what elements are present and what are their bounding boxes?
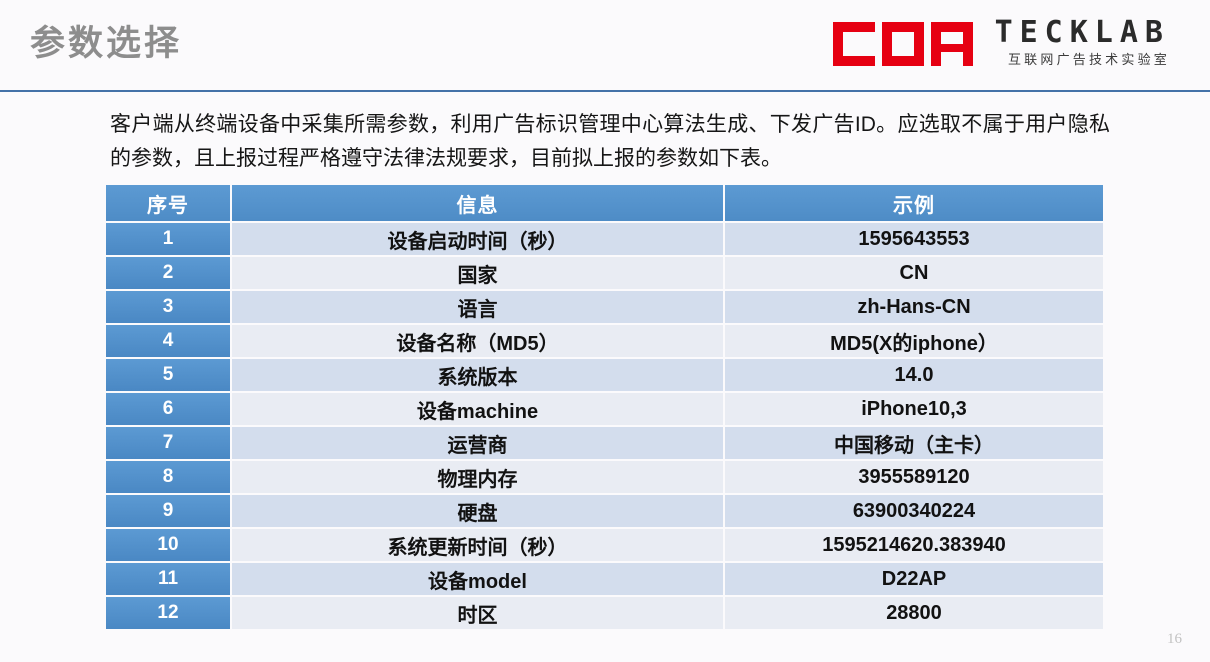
cell-example: D22AP — [725, 563, 1103, 595]
table-row: 12时区28800 — [106, 597, 1103, 629]
cell-info: 设备启动时间（秒） — [232, 223, 723, 255]
table-row: 1设备启动时间（秒）1595643553 — [106, 223, 1103, 255]
table-row: 9硬盘63900340224 — [106, 495, 1103, 527]
table-row: 11设备modelD22AP — [106, 563, 1103, 595]
column-header-info: 信息 — [232, 185, 723, 221]
table-header-row: 序号 信息 示例 — [106, 185, 1103, 221]
table-row: 5系统版本14.0 — [106, 359, 1103, 391]
cell-index: 8 — [106, 461, 230, 493]
header-divider — [0, 90, 1210, 92]
column-header-example: 示例 — [725, 185, 1103, 221]
cell-index: 7 — [106, 427, 230, 459]
cell-example: 1595214620.383940 — [725, 529, 1103, 561]
cda-logomark-icon — [833, 22, 973, 72]
cell-index: 4 — [106, 325, 230, 357]
cell-index: 6 — [106, 393, 230, 425]
column-header-no: 序号 — [106, 185, 230, 221]
letter-d-icon — [882, 22, 924, 66]
cell-info: 系统版本 — [232, 359, 723, 391]
cell-example: zh-Hans-CN — [725, 291, 1103, 323]
table-head: 序号 信息 示例 — [106, 185, 1103, 221]
table-row: 10系统更新时间（秒）1595214620.383940 — [106, 529, 1103, 561]
cell-index: 11 — [106, 563, 230, 595]
table-row: 7运营商中国移动（主卡） — [106, 427, 1103, 459]
letter-c-icon — [833, 22, 875, 66]
cell-info: 运营商 — [232, 427, 723, 459]
cell-info: 物理内存 — [232, 461, 723, 493]
cell-example: 14.0 — [725, 359, 1103, 391]
cell-info: 设备model — [232, 563, 723, 595]
table-row: 6设备machineiPhone10,3 — [106, 393, 1103, 425]
cell-example: 中国移动（主卡） — [725, 427, 1103, 459]
cell-example: 28800 — [725, 597, 1103, 629]
table-row: 2国家CN — [106, 257, 1103, 289]
cell-info: 系统更新时间（秒） — [232, 529, 723, 561]
cell-index: 2 — [106, 257, 230, 289]
parameters-table: 序号 信息 示例 1设备启动时间（秒）15956435532国家CN3语言zh-… — [104, 183, 1105, 631]
table-row: 3语言zh-Hans-CN — [106, 291, 1103, 323]
cell-example: 3955589120 — [725, 461, 1103, 493]
table-row: 4设备名称（MD5）MD5(X的iphone） — [106, 325, 1103, 357]
letter-a-icon — [931, 22, 973, 66]
table-row: 8物理内存3955589120 — [106, 461, 1103, 493]
cell-index: 1 — [106, 223, 230, 255]
cell-example: MD5(X的iphone） — [725, 325, 1103, 357]
cell-info: 时区 — [232, 597, 723, 629]
logo-wordmark: TECKLAB — [995, 16, 1170, 49]
cell-index: 12 — [106, 597, 230, 629]
page-title: 参数选择 — [30, 22, 182, 66]
cell-info: 国家 — [232, 257, 723, 289]
cell-example: iPhone10,3 — [725, 393, 1103, 425]
cell-index: 9 — [106, 495, 230, 527]
cell-index: 5 — [106, 359, 230, 391]
cell-info: 硬盘 — [232, 495, 723, 527]
brand-logo: TECKLAB 互联网广告技术实验室 — [833, 16, 1170, 72]
cell-info: 语言 — [232, 291, 723, 323]
page-number: 16 — [1167, 631, 1182, 648]
body-paragraph: 客户端从终端设备中采集所需参数，利用广告标识管理中心算法生成、下发广告ID。应选… — [110, 108, 1110, 176]
cell-index: 10 — [106, 529, 230, 561]
cell-info: 设备名称（MD5） — [232, 325, 723, 357]
cell-example: CN — [725, 257, 1103, 289]
logo-subtitle: 互联网广告技术实验室 — [1008, 51, 1170, 69]
cell-example: 1595643553 — [725, 223, 1103, 255]
cell-info: 设备machine — [232, 393, 723, 425]
logo-text-block: TECKLAB 互联网广告技术实验室 — [995, 16, 1170, 72]
slide-header: 参数选择 TECKLAB 互联网广告技术实验室 — [0, 0, 1210, 88]
cell-index: 3 — [106, 291, 230, 323]
cell-example: 63900340224 — [725, 495, 1103, 527]
table-body: 1设备启动时间（秒）15956435532国家CN3语言zh-Hans-CN4设… — [106, 223, 1103, 629]
